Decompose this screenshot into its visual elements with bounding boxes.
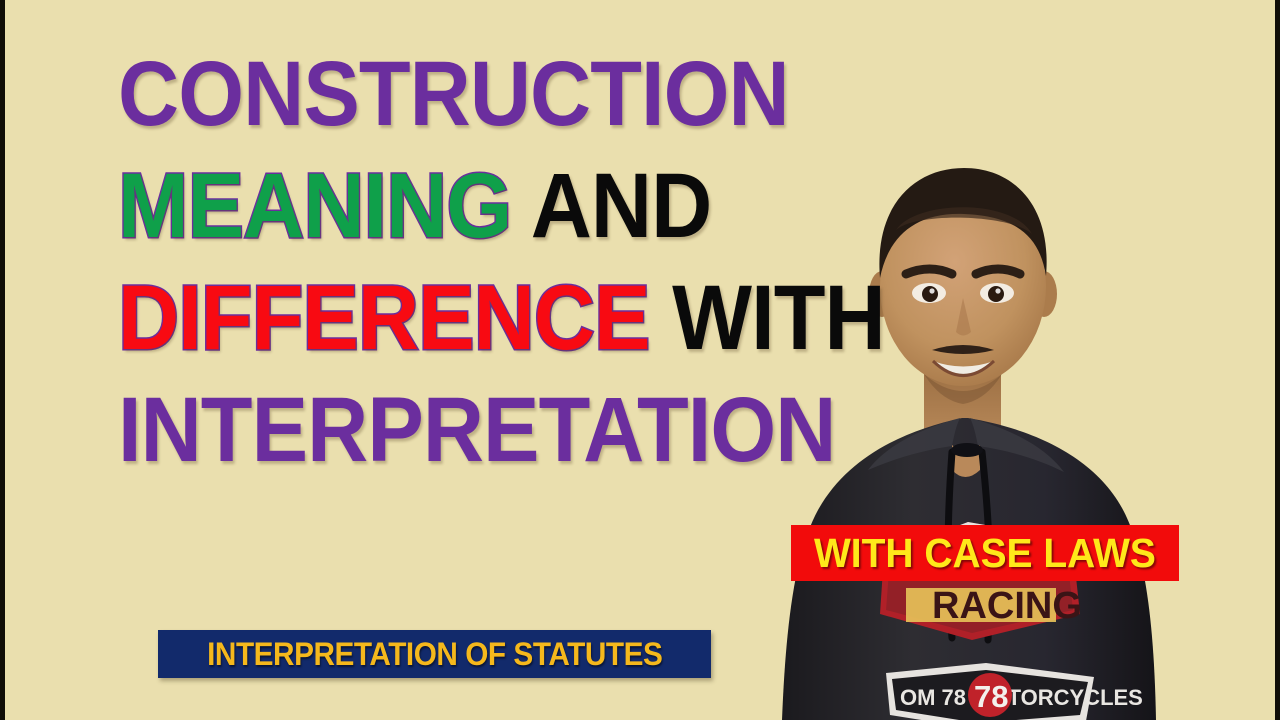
headline-line-4: INTERPRETATION	[118, 374, 845, 486]
interpretation-of-statutes-banner: INTERPRETATION OF STATUTES	[158, 630, 711, 678]
headline-line-3: DIFFERENCE WITH	[118, 262, 845, 374]
headline-word-difference: DIFFERENCE	[118, 267, 650, 369]
thumbnail-canvas: HI-PERFORMANCE RACING OM 78 MOTORCYCLES …	[0, 0, 1280, 720]
with-case-laws-label: WITH CASE LAWS	[814, 533, 1156, 574]
hoodie-graphic-number: 78	[974, 679, 1008, 714]
right-edge-strip	[1275, 0, 1280, 720]
headline-word-and: AND	[511, 155, 711, 257]
left-edge-strip	[0, 0, 5, 720]
headline-block: CONSTRUCTION MEANING AND DIFFERENCE WITH…	[118, 38, 908, 486]
hoodie-graphic-bottom-text: OM 78 MOTORCYCLES	[900, 685, 1143, 710]
headline-word-meaning: MEANING	[118, 155, 511, 257]
headline-line-1: CONSTRUCTION	[118, 38, 845, 150]
headline-word-interpretation: INTERPRETATION	[118, 379, 836, 481]
headline-line-2: MEANING AND	[118, 150, 845, 262]
with-case-laws-banner: WITH CASE LAWS	[791, 525, 1179, 581]
svg-text:RACING: RACING	[932, 585, 1082, 627]
headline-word-construction: CONSTRUCTION	[118, 43, 789, 145]
headline-word-with: WITH	[650, 267, 885, 369]
interpretation-of-statutes-label: INTERPRETATION OF STATUTES	[207, 638, 662, 670]
